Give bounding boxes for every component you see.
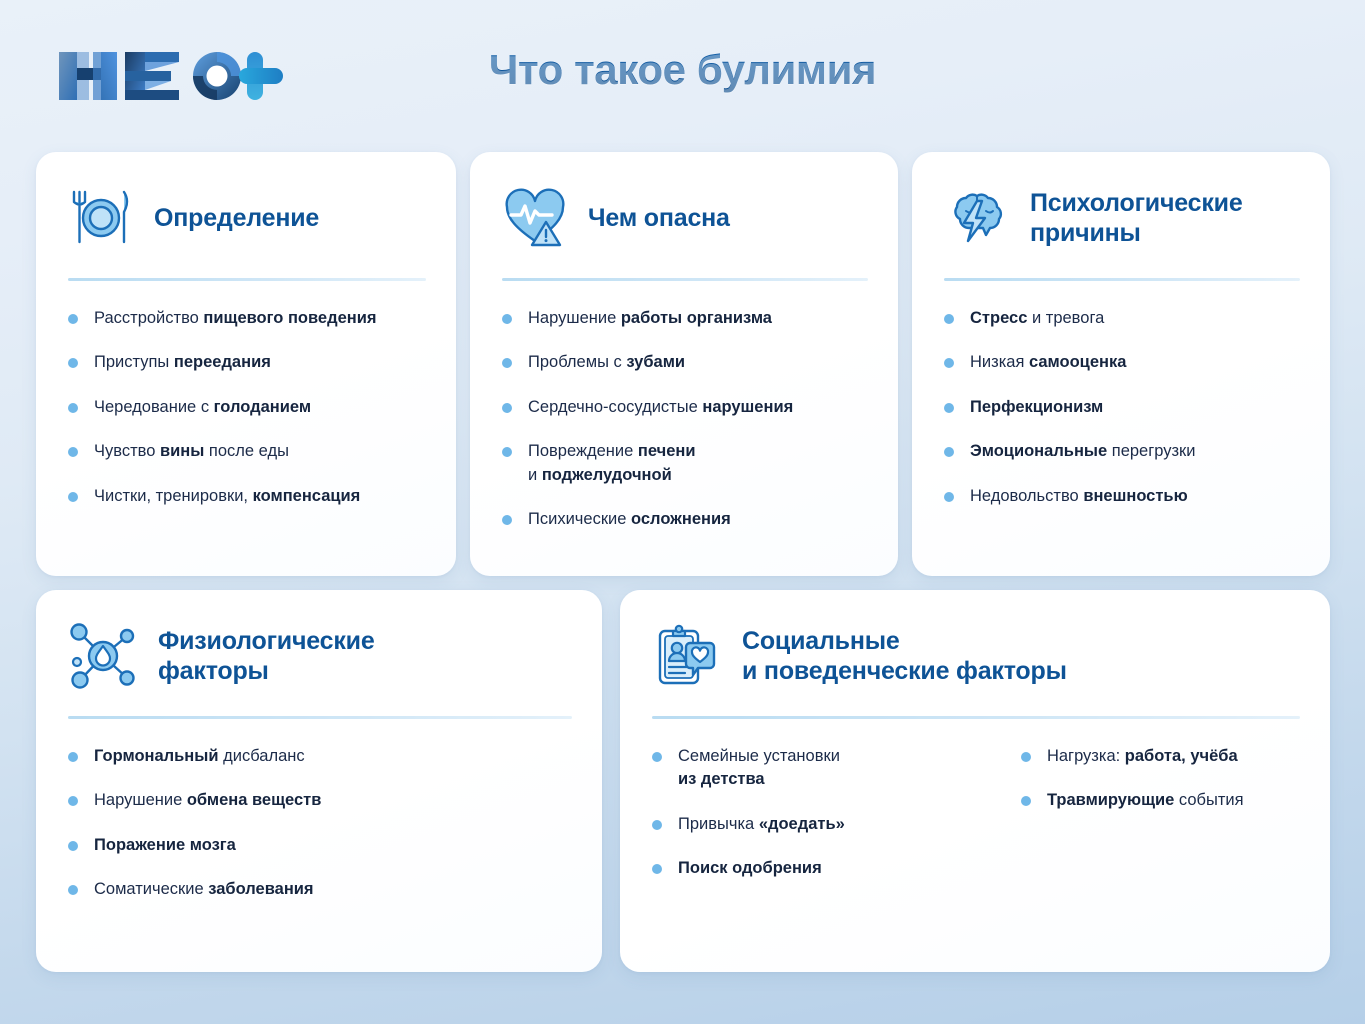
card-social-behavioral-factors: Социальныеи поведенческие факторы Семейн… bbox=[620, 590, 1330, 972]
card-header: Социальныеи поведенческие факторы bbox=[652, 618, 1300, 694]
bullet-text-plain-after: дисбаланс bbox=[219, 747, 305, 765]
list-item: Привычка «доедать» bbox=[652, 813, 959, 836]
list-item: Сердечно-сосудистые нарушения bbox=[502, 396, 868, 419]
molecule-hormone-icon bbox=[68, 621, 138, 691]
bullet-list: Расстройство пищевого поведения Приступы… bbox=[68, 307, 426, 508]
bullet-text-bold: Гормональный bbox=[94, 747, 219, 765]
card-psychological-causes: Психологическиепричины Стресс и тревога … bbox=[912, 152, 1330, 576]
bullet-text-bold: голоданием bbox=[214, 398, 311, 416]
card-title-line2: и поведенческие факторы bbox=[742, 657, 1067, 685]
card-title: Социальныеи поведенческие факторы bbox=[742, 626, 1067, 687]
card-title-line1: Социальные bbox=[742, 627, 900, 655]
bullet-text-bold: печени bbox=[638, 442, 696, 460]
bullet-text-plain: Приступы bbox=[94, 353, 174, 371]
bullet-text-plain-after: перегрузки bbox=[1107, 442, 1195, 460]
bullet-text-bold: пищевого поведения bbox=[203, 309, 376, 327]
list-item: Семейные установкииз детства bbox=[652, 745, 959, 792]
bullet-text-bold: самооценка bbox=[1029, 353, 1126, 371]
bullet-list-right: Нагрузка: работа, учёба Травмирующие соб… bbox=[1021, 745, 1300, 881]
bullet-text-plain: Привычка bbox=[678, 815, 759, 833]
card-header: Физиологическиефакторы bbox=[68, 618, 572, 694]
card-divider bbox=[68, 716, 572, 719]
bullet-text-line2-bold: из детства bbox=[678, 770, 765, 788]
card-header: Определение bbox=[68, 180, 426, 256]
list-item: Чувство вины после еды bbox=[68, 440, 426, 463]
bullet-text-bold: внешностью bbox=[1083, 487, 1187, 505]
bullet-text-bold: Поражение мозга bbox=[94, 836, 236, 854]
bullet-text-bold: нарушения bbox=[702, 398, 793, 416]
list-item: Приступы переедания bbox=[68, 351, 426, 374]
bullet-text-plain: Недовольство bbox=[970, 487, 1083, 505]
bullet-text-bold: Стресс bbox=[970, 309, 1027, 327]
list-item: Эмоциональные перегрузки bbox=[944, 440, 1300, 463]
card-header: Психологическиепричины bbox=[944, 180, 1300, 256]
list-item: Нарушение работы организма bbox=[502, 307, 868, 330]
card-divider bbox=[652, 716, 1300, 719]
list-item: Нарушение обмена веществ bbox=[68, 789, 572, 812]
heart-pulse-warning-icon bbox=[502, 185, 568, 251]
clipboard-person-heart-icon bbox=[652, 621, 722, 691]
list-item: Гормональный дисбаланс bbox=[68, 745, 572, 768]
card-definition: Определение Расстройство пищевого поведе… bbox=[36, 152, 456, 576]
list-item: Чистки, тренировки, компенсация bbox=[68, 485, 426, 508]
card-dangers: Чем опасна Нарушение работы организма Пр… bbox=[470, 152, 898, 576]
bullet-text-bold: работы организма bbox=[621, 309, 772, 327]
plate-fork-knife-icon bbox=[68, 185, 134, 251]
page-title: Что такое булимия bbox=[0, 46, 1365, 94]
bullet-text-line2-plain: и bbox=[528, 466, 542, 484]
bullet-text-plain: Сердечно-сосудистые bbox=[528, 398, 702, 416]
brain-lightning-icon bbox=[944, 185, 1010, 251]
card-title: Физиологическиефакторы bbox=[158, 626, 375, 687]
bullet-text-bold: зубами bbox=[626, 353, 685, 371]
bullet-text-line2-bold: поджелудочной bbox=[542, 466, 672, 484]
bullet-text-plain: Чувство bbox=[94, 442, 160, 460]
bullet-columns: Семейные установкииз детства Привычка «д… bbox=[652, 745, 1300, 881]
bullet-list: Нарушение работы организма Проблемы с зу… bbox=[502, 307, 868, 532]
bullet-text-bold: Эмоциональные bbox=[970, 442, 1107, 460]
bullet-text-bold: Травмирующие bbox=[1047, 791, 1174, 809]
list-item: Нагрузка: работа, учёба bbox=[1021, 745, 1300, 768]
card-title-line1: Физиологические bbox=[158, 627, 375, 655]
card-header: Чем опасна bbox=[502, 180, 868, 256]
bullet-list: Стресс и тревога Низкая самооценка Перфе… bbox=[944, 307, 1300, 508]
bullet-text-bold: Поиск одобрения bbox=[678, 859, 822, 877]
bullet-text-plain: Нагрузка: bbox=[1047, 747, 1125, 765]
card-title-line2: факторы bbox=[158, 657, 269, 685]
card-title: Психологическиепричины bbox=[1030, 188, 1243, 249]
card-divider bbox=[68, 278, 426, 281]
card-physiological-factors: Физиологическиефакторы Гормональный дисб… bbox=[36, 590, 602, 972]
bullet-text-plain: Соматические bbox=[94, 880, 208, 898]
list-item: Низкая самооценка bbox=[944, 351, 1300, 374]
card-divider bbox=[944, 278, 1300, 281]
bullet-text-bold: осложнения bbox=[631, 510, 731, 528]
bullet-text-plain-after: и тревога bbox=[1027, 309, 1104, 327]
list-item: Поражение мозга bbox=[68, 834, 572, 857]
bullet-text-bold: «доедать» bbox=[759, 815, 845, 833]
list-item: Проблемы с зубами bbox=[502, 351, 868, 374]
list-item: Психические осложнения bbox=[502, 508, 868, 531]
card-title: Определение bbox=[154, 203, 319, 234]
card-title: Чем опасна bbox=[588, 203, 730, 234]
list-item: Перфекционизм bbox=[944, 396, 1300, 419]
bullet-text-plain: Нарушение bbox=[528, 309, 621, 327]
bullet-text-plain: Психические bbox=[528, 510, 631, 528]
bullet-text-plain: Расстройство bbox=[94, 309, 203, 327]
bullet-text-plain: Повреждение bbox=[528, 442, 638, 460]
page-header: Что такое булимия bbox=[0, 0, 1365, 148]
list-item: Повреждение печении поджелудочной bbox=[502, 440, 868, 487]
bullet-text-plain: Чистки, тренировки, bbox=[94, 487, 253, 505]
bullet-text-plain: Низкая bbox=[970, 353, 1029, 371]
cards-board: Определение Расстройство пищевого поведе… bbox=[36, 152, 1330, 992]
bullet-list-left: Семейные установкииз детства Привычка «д… bbox=[652, 745, 959, 881]
bullet-text-bold: обмена веществ bbox=[187, 791, 322, 809]
bullet-text-bold: заболевания bbox=[208, 880, 313, 898]
list-item: Недовольство внешностью bbox=[944, 485, 1300, 508]
list-item: Расстройство пищевого поведения bbox=[68, 307, 426, 330]
list-item: Поиск одобрения bbox=[652, 857, 959, 880]
bullet-text-bold: Перфекционизм bbox=[970, 398, 1103, 416]
bullet-text-bold: компенсация bbox=[253, 487, 361, 505]
card-divider bbox=[502, 278, 868, 281]
bullet-list: Гормональный дисбаланс Нарушение обмена … bbox=[68, 745, 572, 902]
bullet-text-plain-after: события bbox=[1174, 791, 1243, 809]
bullet-text-bold: переедания bbox=[174, 353, 271, 371]
list-item: Травмирующие события bbox=[1021, 789, 1300, 812]
bullet-text-plain: Чередование с bbox=[94, 398, 214, 416]
list-item: Стресс и тревога bbox=[944, 307, 1300, 330]
bullet-text-bold: работа, учёба bbox=[1125, 747, 1238, 765]
bullet-text-plain: Нарушение bbox=[94, 791, 187, 809]
card-title-line1: Психологические bbox=[1030, 189, 1243, 217]
card-title-line2: причины bbox=[1030, 219, 1141, 247]
bullet-text-plain: Семейные установки bbox=[678, 747, 840, 765]
bullet-text-plain-after: после еды bbox=[204, 442, 289, 460]
list-item: Чередование с голоданием bbox=[68, 396, 426, 419]
bullet-text-bold: вины bbox=[160, 442, 204, 460]
list-item: Соматические заболевания bbox=[68, 878, 572, 901]
bullet-text-plain: Проблемы с bbox=[528, 353, 626, 371]
